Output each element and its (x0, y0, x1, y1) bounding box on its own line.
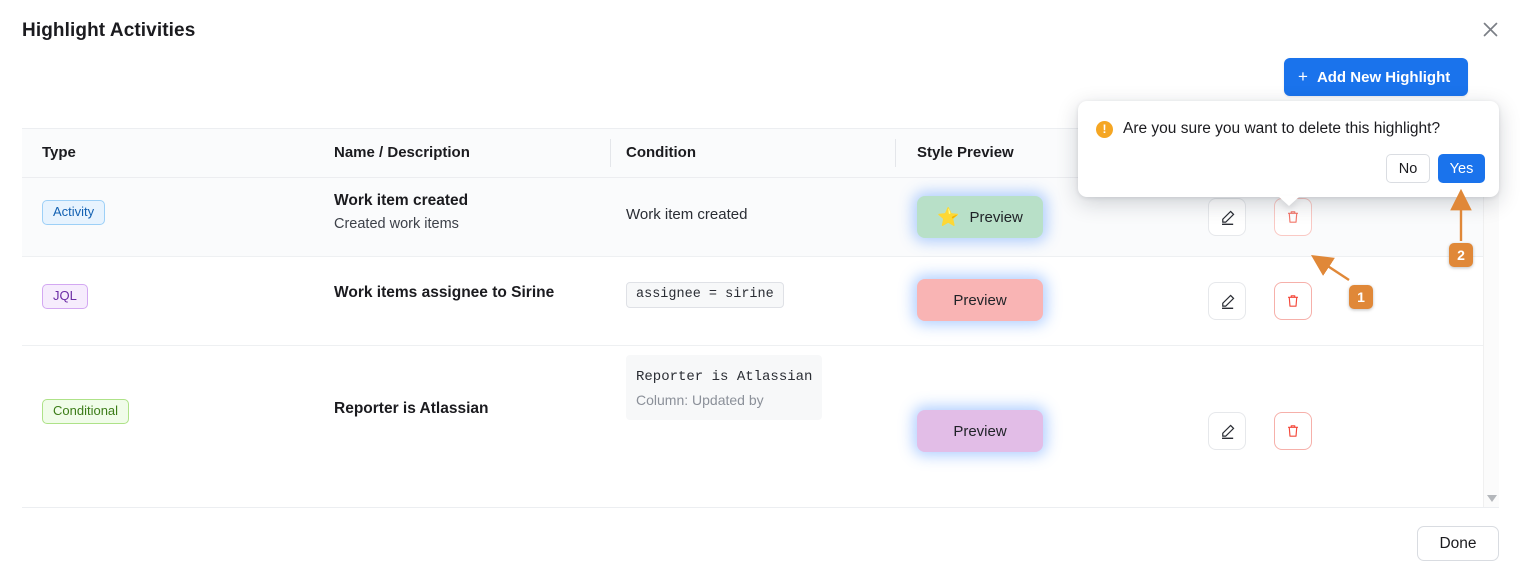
row-type-cell: JQL (42, 284, 88, 309)
row-actions-cell (1208, 412, 1312, 450)
row-name-cell: Work items assignee to Sirine (334, 284, 554, 302)
popover-tail (1278, 196, 1300, 206)
column-header-name: Name / Description (334, 144, 470, 161)
dialog-header: Highlight Activities (0, 0, 1521, 60)
row-type-cell: Activity (42, 200, 105, 225)
row-name: Work items assignee to Sirine (334, 284, 554, 302)
confirm-message-row: ! Are you sure you want to delete this h… (1096, 120, 1440, 138)
row-style-cell: ⭐ Preview (917, 196, 1043, 238)
status-badge: JQL (42, 284, 88, 309)
chevron-down-icon[interactable] (1487, 495, 1497, 502)
row-name: Work item created (334, 192, 468, 210)
star-icon: ⭐ (937, 208, 959, 226)
page-title: Highlight Activities (22, 20, 195, 42)
close-icon[interactable] (1473, 12, 1507, 46)
row-condition-cell: Work item created (626, 206, 747, 224)
row-condition-cell: assignee = sirine (626, 282, 784, 308)
column-header-type: Type (42, 144, 76, 161)
delete-confirm-popover: ! Are you sure you want to delete this h… (1078, 101, 1499, 197)
style-preview-chip[interactable]: Preview (917, 279, 1043, 321)
header-divider (610, 139, 611, 167)
column-header-style: Style Preview (917, 144, 1014, 161)
status-badge: Activity (42, 200, 105, 225)
row-description: Created work items (334, 216, 468, 232)
row-condition-code-block: Reporter is Atlassian Column: Updated by (626, 355, 822, 420)
table-row[interactable]: JQL Work items assignee to Sirine assign… (22, 257, 1499, 346)
row-style-cell: Preview (917, 279, 1043, 321)
style-preview-label: Preview (953, 423, 1006, 440)
done-button[interactable]: Done (1417, 526, 1499, 561)
row-name-cell: Work item created Created work items (334, 192, 468, 232)
edit-button[interactable] (1208, 412, 1246, 450)
style-preview-chip[interactable]: ⭐ Preview (917, 196, 1043, 238)
confirm-yes-button[interactable]: Yes (1438, 154, 1485, 183)
style-preview-label: Preview (953, 292, 1006, 309)
add-new-highlight-button[interactable]: + Add New Highlight (1284, 58, 1468, 96)
plus-icon: + (1298, 68, 1308, 85)
row-actions-cell (1208, 282, 1312, 320)
row-condition-code: Reporter is Atlassian (636, 369, 812, 385)
delete-button[interactable] (1274, 282, 1312, 320)
row-condition-column: Column: Updated by (636, 392, 812, 408)
row-condition: Work item created (626, 206, 747, 223)
header-divider (895, 139, 896, 167)
add-new-highlight-label: Add New Highlight (1317, 69, 1450, 86)
style-preview-chip[interactable]: Preview (917, 410, 1043, 452)
edit-button[interactable] (1208, 198, 1246, 236)
row-name: Reporter is Atlassian (334, 400, 488, 418)
warning-icon: ! (1096, 121, 1113, 138)
confirm-message: Are you sure you want to delete this hig… (1123, 120, 1440, 138)
row-name-cell: Reporter is Atlassian (334, 400, 488, 418)
confirm-actions: No Yes (1386, 154, 1485, 183)
highlight-activities-dialog: Highlight Activities + Add New Highlight… (0, 0, 1521, 575)
row-condition-cell: Reporter is Atlassian Column: Updated by (626, 355, 822, 420)
row-type-cell: Conditional (42, 399, 129, 424)
table-row[interactable]: Conditional Reporter is Atlassian Report… (22, 346, 1499, 508)
edit-button[interactable] (1208, 282, 1246, 320)
delete-button[interactable] (1274, 412, 1312, 450)
column-header-condition: Condition (626, 144, 696, 161)
style-preview-label: Preview (970, 209, 1023, 226)
row-condition-code: assignee = sirine (626, 282, 784, 308)
table-scrollbar[interactable] (1483, 177, 1499, 507)
confirm-no-button[interactable]: No (1386, 154, 1430, 183)
status-badge: Conditional (42, 399, 129, 424)
row-style-cell: Preview (917, 410, 1043, 452)
